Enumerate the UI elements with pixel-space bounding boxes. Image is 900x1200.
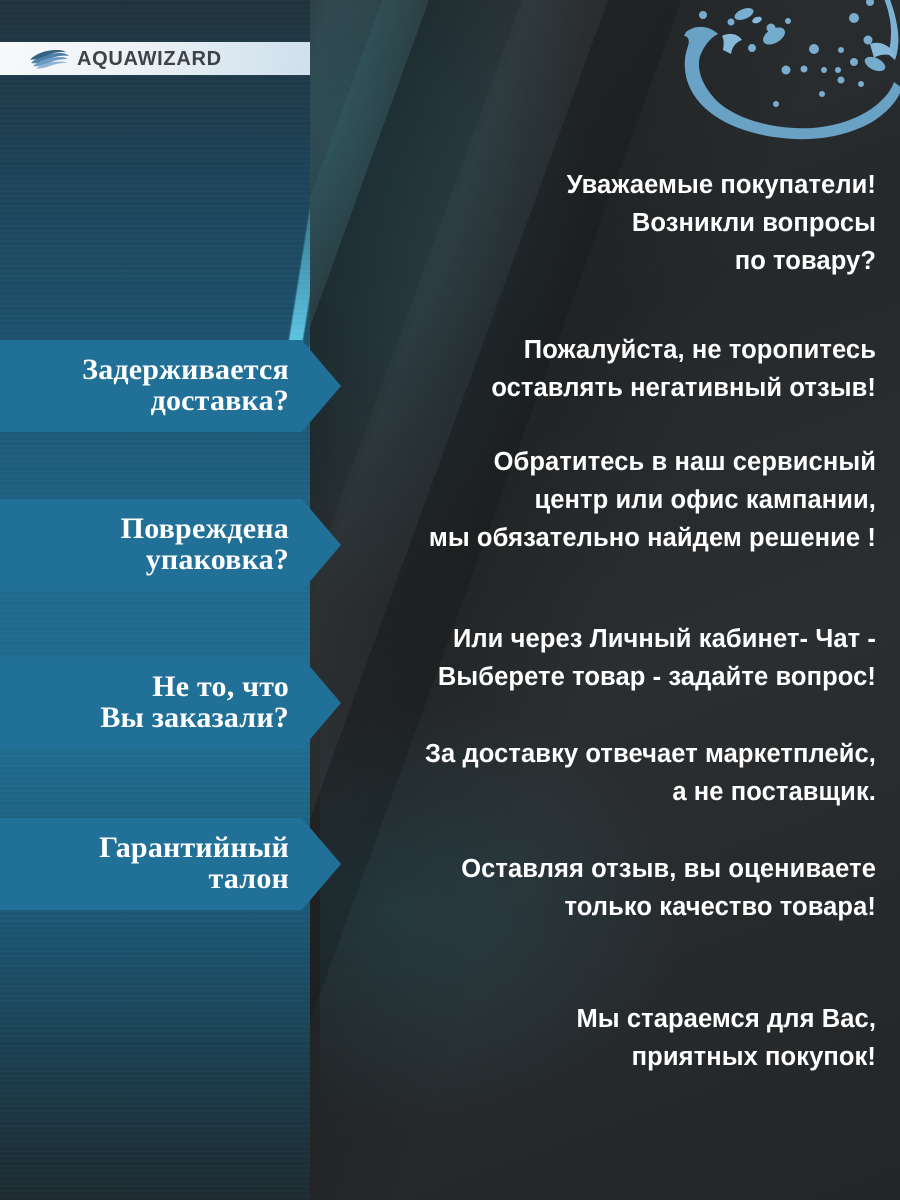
tab-delivery-delayed[interactable]: Задерживается доставка? <box>0 340 341 432</box>
paragraph-contact: Обратитесь в наш сервисный центр или офи… <box>316 443 876 557</box>
tab-damaged-packaging[interactable]: Повреждена упаковка? <box>0 499 341 591</box>
message-column: Уважаемые покупатели! Возникли вопросы п… <box>318 0 900 1200</box>
tab-label: Гарантийный талон <box>99 833 289 895</box>
question-tabs: Задерживается доставка? Повреждена упако… <box>0 0 345 1200</box>
promo-poster: AQUAWIZARD Задерживается доставка? Повре… <box>0 0 900 1200</box>
tab-warranty-card[interactable]: Гарантийный талон <box>0 818 341 910</box>
paragraph-review: Оставляя отзыв, вы оцениваете только кач… <box>324 850 876 926</box>
paragraph-no-rush: Пожалуйста, не торопитесь оставлять нега… <box>324 331 876 407</box>
tab-label: Повреждена упаковка? <box>121 514 289 576</box>
tab-label: Задерживается доставка? <box>82 355 289 417</box>
paragraph-greeting: Уважаемые покупатели! Возникли вопросы п… <box>336 166 876 280</box>
paragraph-chat: Или через Личный кабинет- Чат - Выберете… <box>324 620 876 696</box>
tab-label: Не то, что Вы заказали? <box>100 672 289 734</box>
paragraph-delivery: За доставку отвечает маркетплейс, а не п… <box>316 735 876 811</box>
tab-wrong-item[interactable]: Не то, что Вы заказали? <box>0 657 341 749</box>
paragraph-closing: Мы стараемся для Вас, приятных покупок! <box>336 1000 876 1076</box>
